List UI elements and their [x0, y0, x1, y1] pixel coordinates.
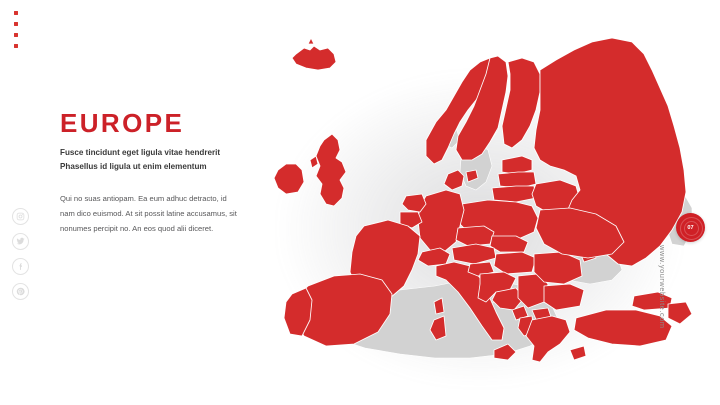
country-ireland	[274, 164, 304, 194]
country-hungary	[494, 252, 536, 274]
europe-map	[240, 14, 710, 394]
country-iceland	[292, 38, 336, 70]
slide-number: 07	[687, 225, 693, 231]
slide-number-badge: 07	[676, 213, 705, 242]
country-bulgaria	[544, 284, 584, 310]
country-germany	[418, 190, 464, 252]
instagram-icon	[16, 212, 25, 221]
decorative-dot	[14, 22, 18, 26]
subtitle-text: Fusce tincidunt eget ligula vitae hendre…	[60, 146, 260, 174]
social-link-twitter[interactable]	[12, 233, 29, 250]
social-link-pinterest[interactable]	[12, 283, 29, 300]
country-united-kingdom	[310, 134, 346, 206]
social-links	[12, 208, 29, 308]
body-paragraph: Qui no suas antiopam. Ea eum adhuc detra…	[60, 192, 240, 236]
decorative-dot	[14, 11, 18, 15]
twitter-icon	[16, 237, 25, 246]
europe-map-svg	[240, 14, 710, 394]
website-url[interactable]: www.yourwebsite.com	[658, 245, 667, 365]
country-lithuania	[492, 186, 536, 202]
facebook-icon	[16, 262, 25, 271]
country-netherlands	[402, 194, 426, 212]
country-austria	[452, 244, 496, 264]
text-column: EUROPE Fusce tincidunt eget ligula vitae…	[60, 110, 270, 237]
social-link-instagram[interactable]	[12, 208, 29, 225]
decorative-dots	[14, 11, 18, 55]
country-azerbaijan	[668, 302, 692, 324]
slide-europe: EUROPE Fusce tincidunt eget ligula vitae…	[0, 0, 720, 405]
country-estonia	[502, 156, 532, 174]
pinterest-icon	[16, 287, 25, 296]
page-title: EUROPE	[60, 110, 270, 136]
country-switzerland	[418, 248, 450, 266]
social-link-facebook[interactable]	[12, 258, 29, 275]
map-highlighted-countries	[274, 38, 692, 362]
decorative-dot	[14, 33, 18, 37]
decorative-dot	[14, 44, 18, 48]
country-czech-republic	[456, 226, 494, 246]
country-slovakia	[490, 236, 528, 252]
